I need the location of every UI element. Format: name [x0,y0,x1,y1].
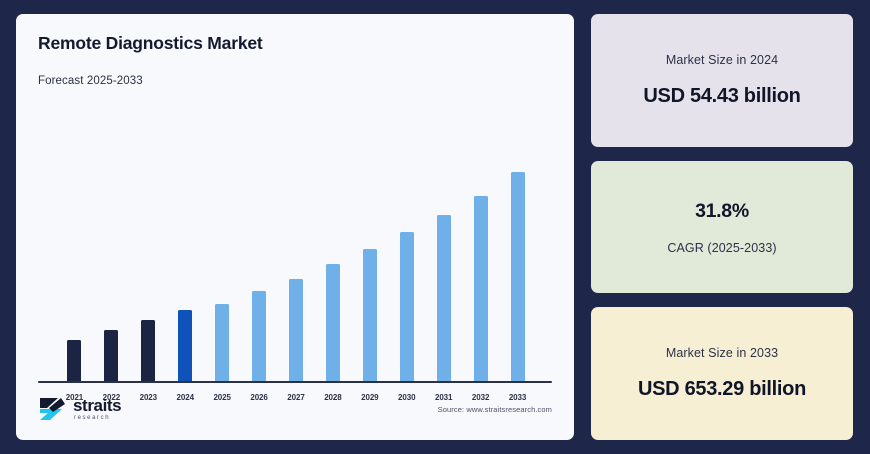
bar-2021[interactable] [67,340,81,382]
source-attribution: Source: www.straitsresearch.com [438,405,552,414]
bar-slot [167,91,204,382]
bar-2032[interactable] [474,196,488,382]
bar-group [46,91,546,382]
chart-footer: straits research Source: www.straitsrese… [38,392,552,426]
bar-slot [241,91,278,382]
plot-area: 2021202220232024202520262027202820292030… [38,91,552,428]
page-title: Remote Diagnostics Market [38,34,552,53]
stat-card-label: Market Size in 2024 [666,53,778,67]
logo-name: straits [73,397,121,414]
straits-arrow-icon [38,396,68,422]
bar-2029[interactable] [363,249,377,382]
stat-cards: Market Size in 2024USD 54.43 billion31.8… [591,14,853,440]
stat-card-value: USD 653.29 billion [638,378,806,401]
straits-research-logo: straits research [38,396,121,422]
stat-card-value: USD 54.43 billion [643,85,800,108]
logo-tagline: research [74,415,121,421]
bar-slot [499,91,536,382]
bar-2027[interactable] [289,279,303,382]
bar-slot [130,91,167,382]
stat-card-value: 31.8% [695,200,749,223]
logo-wordmark: straits research [73,397,121,421]
bar-slot [93,91,130,382]
bar-slot [462,91,499,382]
bar-2022[interactable] [104,330,118,382]
bar-plot [46,91,546,382]
stat-card-market-size-2024: Market Size in 2024USD 54.43 billion [591,14,853,147]
chart-panel: Remote Diagnostics Market Forecast 2025-… [16,14,574,440]
bar-2030[interactable] [400,232,414,382]
infographic-root: Remote Diagnostics Market Forecast 2025-… [0,0,870,454]
bar-2028[interactable] [326,264,340,382]
bar-2031[interactable] [437,215,451,382]
bar-2026[interactable] [252,291,266,382]
bar-slot [56,91,93,382]
bar-2025[interactable] [215,304,229,382]
stat-card-market-size-2033: Market Size in 2033USD 653.29 billion [591,307,853,440]
bar-2023[interactable] [141,320,155,382]
bar-slot [314,91,351,382]
x-axis-line [38,381,552,384]
bar-2024[interactable] [178,310,192,382]
stat-card-label: Market Size in 2033 [666,346,778,360]
bar-slot [278,91,315,382]
bar-slot [351,91,388,382]
chart-subtitle: Forecast 2025-2033 [38,75,552,87]
stat-card-label: CAGR (2025-2033) [667,241,776,255]
bar-2033[interactable] [511,172,525,382]
stat-card-cagr: 31.8%CAGR (2025-2033) [591,161,853,294]
bar-slot [425,91,462,382]
bar-slot [204,91,241,382]
bar-slot [388,91,425,382]
